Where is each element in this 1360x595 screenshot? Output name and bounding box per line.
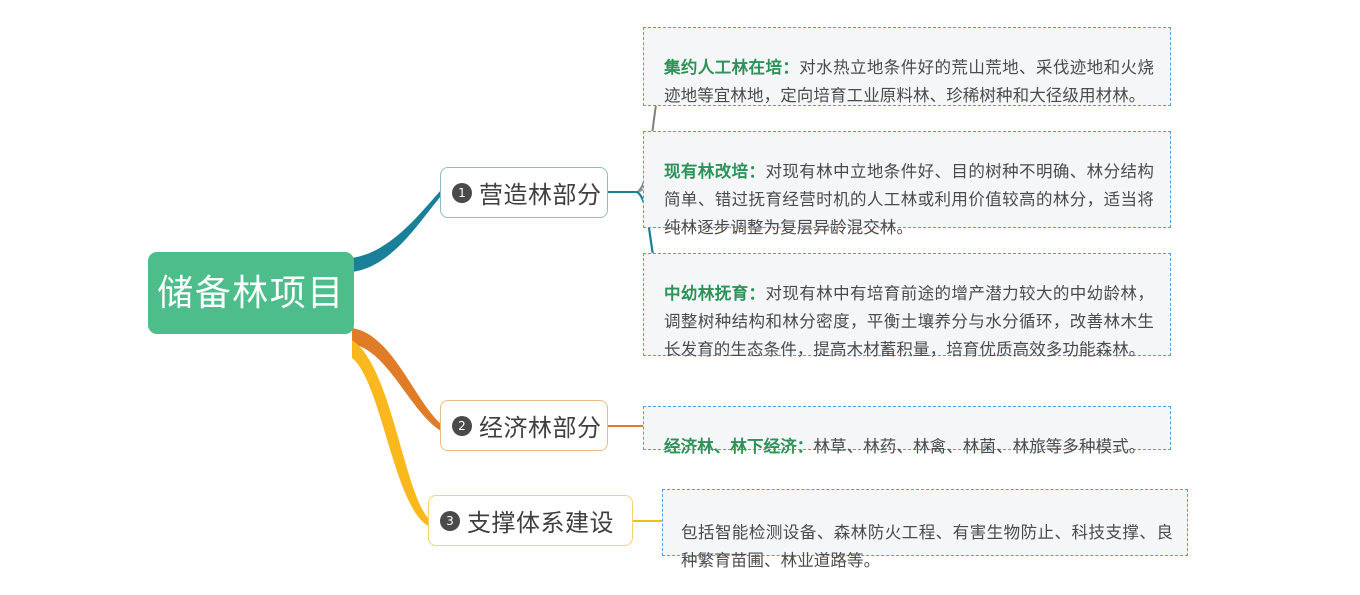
detail-box-5-inner: 包括智能检测设备、森林防火工程、有害生物防止、科技支撑、良种繁育苗圃、林业道路等… (663, 490, 1187, 575)
detail-box-5-text: 包括智能检测设备、森林防火工程、有害生物防止、科技支撑、良种繁育苗圃、林业道路等… (681, 519, 1173, 575)
detail-box-2-inner: 现有林改培：对现有林中立地条件好、目的树种不明确、林分结构简单、错过抚育经营时机… (644, 132, 1170, 242)
root-node[interactable]: 储备林项目 (148, 252, 354, 334)
branch-node-3[interactable]: 3 支撑体系建设 (428, 495, 633, 546)
detail-box-1-inner: 集约人工林在培：对水热立地条件好的荒山荒地、采伐迹地和火烧迹地等宜林地，定向培育… (644, 28, 1170, 110)
detail-box-5-body: 包括智能检测设备、森林防火工程、有害生物防止、科技支撑、良种繁育苗圃、林业道路等… (681, 524, 1173, 570)
branch-number-badge-3: 3 (440, 511, 460, 531)
connector-root-to-branch-1 (352, 190, 441, 272)
root-node-label: 储备林项目 (157, 275, 345, 311)
branch-node-2[interactable]: 2 经济林部分 (440, 400, 608, 451)
branch-number-badge-2: 2 (452, 416, 472, 436)
branch-label-3: 支撑体系建设 (467, 503, 614, 538)
detail-box-2-title: 现有林改培： (664, 163, 765, 181)
connector-root-to-branch-3 (352, 340, 430, 527)
branch-node-1[interactable]: 1 营造林部分 (440, 167, 608, 218)
detail-box-3-text: 中幼林抚育：对现有林中有培育前途的增产潜力较大的中幼龄林，调整树种结构和林分密度… (664, 280, 1154, 364)
branch-label-1: 营造林部分 (479, 175, 602, 210)
detail-box-1[interactable]: 集约人工林在培：对水热立地条件好的荒山荒地、采伐迹地和火烧迹地等宜林地，定向培育… (643, 27, 1171, 106)
detail-box-4-title: 经济林、林下经济： (664, 438, 813, 456)
detail-box-4-body: 林草、林药、林禽、林菌、林旅等多种模式。 (813, 438, 1145, 456)
detail-box-4[interactable]: 经济林、林下经济：林草、林药、林禽、林菌、林旅等多种模式。 (643, 406, 1171, 450)
detail-box-3-title: 中幼林抚育： (664, 285, 765, 303)
mindmap-canvas: 储备林项目 1 营造林部分 2 经济林部分 3 支撑体系建设 集约人工林在培：对… (0, 0, 1360, 595)
detail-box-3-inner: 中幼林抚育：对现有林中有培育前途的增产潜力较大的中幼龄林，调整树种结构和林分密度… (644, 254, 1170, 364)
detail-box-4-text: 经济林、林下经济：林草、林药、林禽、林菌、林旅等多种模式。 (664, 433, 1154, 461)
detail-box-2[interactable]: 现有林改培：对现有林中立地条件好、目的树种不明确、林分结构简单、错过抚育经营时机… (643, 131, 1171, 228)
branch-number-badge-1: 1 (452, 183, 472, 203)
connector-root-to-branch-2 (352, 328, 441, 431)
detail-box-3[interactable]: 中幼林抚育：对现有林中有培育前途的增产潜力较大的中幼龄林，调整树种结构和林分密度… (643, 253, 1171, 356)
detail-box-1-title: 集约人工林在培： (664, 59, 799, 77)
detail-box-4-inner: 经济林、林下经济：林草、林药、林禽、林菌、林旅等多种模式。 (644, 407, 1170, 461)
detail-box-2-text: 现有林改培：对现有林中立地条件好、目的树种不明确、林分结构简单、错过抚育经营时机… (664, 158, 1154, 242)
branch-label-2: 经济林部分 (479, 408, 602, 443)
detail-box-5[interactable]: 包括智能检测设备、森林防火工程、有害生物防止、科技支撑、良种繁育苗圃、林业道路等… (662, 489, 1188, 556)
detail-box-1-text: 集约人工林在培：对水热立地条件好的荒山荒地、采伐迹地和火烧迹地等宜林地，定向培育… (664, 54, 1154, 110)
